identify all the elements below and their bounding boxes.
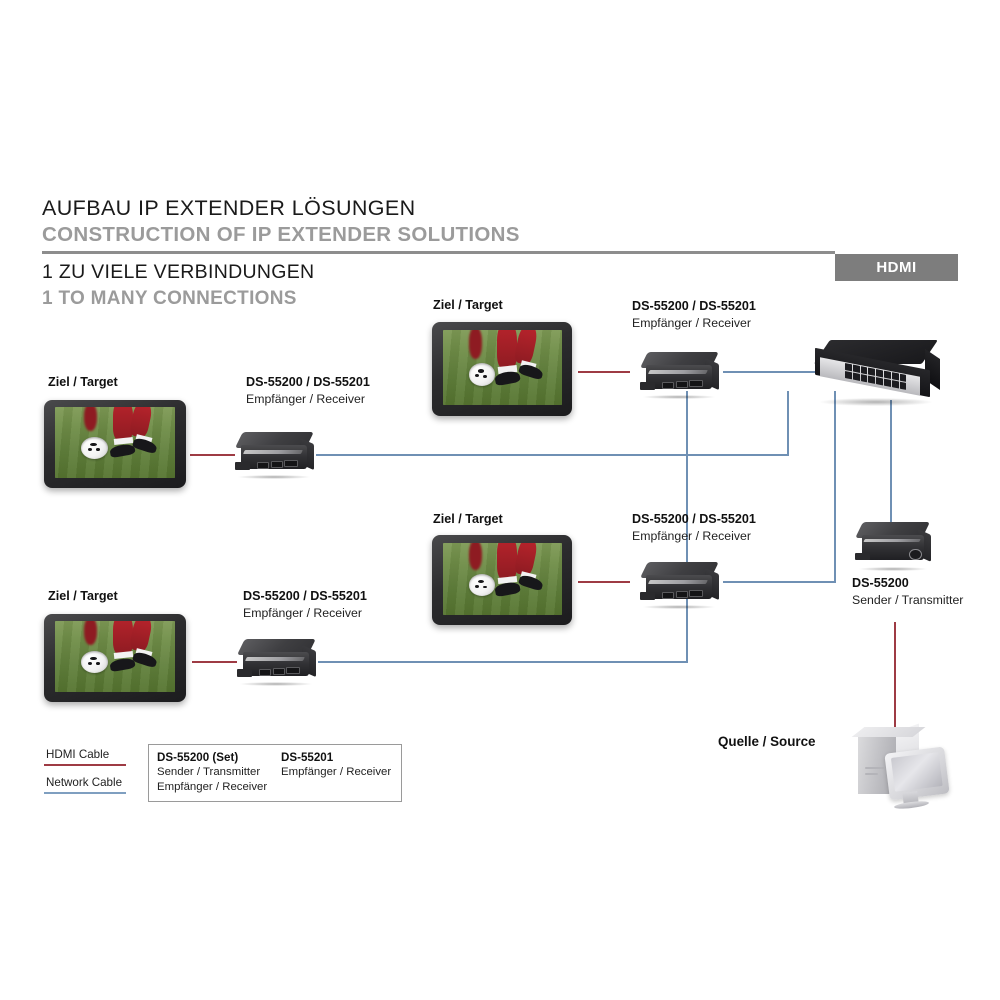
cable-network-branch-d-vertical (686, 391, 688, 663)
legend-swatch-network-cable (44, 792, 126, 794)
device-source-pc (858, 728, 954, 812)
legend-label-network-cable: Network Cable (46, 776, 122, 789)
cable-network-branch-b-horizontal (316, 454, 789, 456)
page-subtitle-de: 1 ZU VIELE VERBINDUNGEN (42, 261, 314, 284)
label-receiver-model-c: DS-55200 / DS-55201 (632, 512, 756, 527)
label-target-c: Ziel / Target (433, 512, 503, 527)
label-receiver-role-c: Empfänger / Receiver (632, 529, 751, 544)
header-divider (42, 251, 835, 254)
cable-network-switch-to-transmitter (890, 400, 892, 525)
label-receiver-model-a: DS-55200 / DS-55201 (632, 299, 756, 314)
monitor-target-b (44, 400, 186, 488)
monitor-target-d (44, 614, 186, 702)
legend-set-model: DS-55200 (Set) (157, 751, 238, 764)
device-network-switch (812, 340, 940, 402)
legend-swatch-hdmi-cable (44, 764, 126, 766)
diagram-canvas: AUFBAU IP EXTENDER LÖSUNGEN CONSTRUCTION… (0, 0, 1000, 1000)
monitor-target-a (432, 322, 572, 416)
device-receiver-c (636, 562, 722, 608)
device-transmitter (852, 522, 934, 570)
device-receiver-d (233, 639, 319, 685)
cable-hdmi-branch-b (190, 454, 235, 456)
page-subtitle-en: 1 TO MANY CONNECTIONS (42, 288, 297, 310)
monitor-target-c (432, 535, 572, 625)
device-receiver-a (636, 352, 722, 398)
cable-network-branch-d-horizontal (318, 661, 688, 663)
label-transmitter-role: Sender / Transmitter (852, 593, 963, 608)
cable-hdmi-branch-c (578, 581, 630, 583)
cable-network-branch-c-horizontal (723, 581, 836, 583)
legend-alt-line1: Empfänger / Receiver (281, 766, 391, 778)
label-receiver-role-a: Empfänger / Receiver (632, 316, 751, 331)
label-target-a: Ziel / Target (433, 298, 503, 313)
label-receiver-model-d: DS-55200 / DS-55201 (243, 589, 367, 604)
cable-hdmi-transmitter-to-source (894, 622, 896, 732)
page-title-de: AUFBAU IP EXTENDER LÖSUNGEN (42, 196, 416, 221)
legend-set-line1: Sender / Transmitter (157, 766, 260, 778)
legend-label-hdmi-cable: HDMI Cable (46, 748, 109, 761)
label-source: Quelle / Source (718, 734, 816, 749)
device-receiver-b (231, 432, 317, 478)
status-badge-hdmi: HDMI (835, 254, 958, 281)
label-receiver-role-b: Empfänger / Receiver (246, 392, 365, 407)
label-receiver-role-d: Empfänger / Receiver (243, 606, 362, 621)
label-transmitter-model: DS-55200 (852, 576, 909, 591)
legend-alt-model: DS-55201 (281, 751, 333, 764)
legend-set-line2: Empfänger / Receiver (157, 781, 267, 793)
cable-network-branch-c-vertical (834, 391, 836, 583)
cable-hdmi-branch-d (192, 661, 237, 663)
label-target-b: Ziel / Target (48, 375, 118, 390)
page-title-en: CONSTRUCTION OF IP EXTENDER SOLUTIONS (42, 223, 520, 247)
label-receiver-model-b: DS-55200 / DS-55201 (246, 375, 370, 390)
cable-hdmi-branch-a (578, 371, 630, 373)
cable-network-branch-b-vertical (787, 391, 789, 456)
label-target-d: Ziel / Target (48, 589, 118, 604)
legend-model-box: DS-55200 (Set) Sender / Transmitter Empf… (148, 744, 402, 802)
